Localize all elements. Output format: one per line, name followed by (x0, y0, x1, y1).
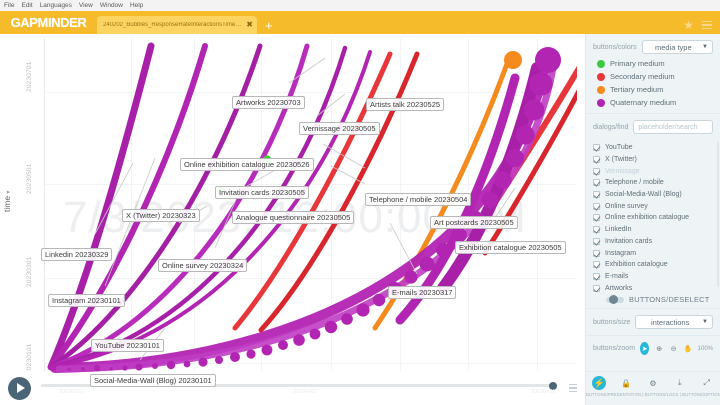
list-item-artworks[interactable]: Artworks (593, 282, 713, 292)
y-tick-0: 20230701 (26, 61, 33, 92)
checkbox-icon[interactable] (593, 214, 600, 221)
list-scrollbar[interactable] (717, 142, 719, 287)
browser-tab-active[interactable]: 240202_Bubbles_ResponseRateInteractionsT… (97, 16, 257, 34)
annotation-emails[interactable]: E-mails 20230317 (388, 286, 456, 299)
annotation-linkedin[interactable]: Linkedin 20230329 (41, 248, 112, 261)
chevron-down-icon: ▼ (702, 319, 708, 325)
annotation-social-media-wall[interactable]: Social-Media-Wall (Blog) 20230101 (90, 374, 216, 387)
annotation-x-twitter[interactable]: X (Twitter) 20230323 (122, 209, 200, 222)
checkbox-icon[interactable] (593, 191, 600, 198)
y-tick-1: 20230501 (26, 163, 33, 194)
play-button[interactable] (8, 377, 31, 400)
list-item-vernissage[interactable]: Vernissage (593, 165, 713, 177)
deselect-toggle[interactable] (606, 297, 624, 303)
checkbox-icon[interactable] (593, 203, 600, 210)
tab-title: 240202_Bubbles_ResponseRateInteractionsT… (103, 22, 242, 28)
hamburger-menu-icon[interactable] (702, 21, 712, 30)
fullscreen-icon[interactable]: ⤢ (700, 376, 714, 390)
legend-dot-orange (597, 86, 605, 94)
annotation-invitation-cards[interactable]: Invitation cards 20230505 (215, 186, 309, 199)
checkbox-icon[interactable] (593, 144, 600, 151)
colors-label: buttons/colors (593, 44, 637, 51)
new-tab-button[interactable]: + (265, 18, 273, 34)
list-item-telephone-mobile[interactable]: Telephone / mobile (593, 177, 713, 189)
legend-label-primary: Primary medium (610, 59, 665, 68)
legend-label-tertiary: Tertiary medium (610, 85, 663, 94)
zoom-label: buttons/zoom (593, 345, 635, 352)
annotation-artists-talk[interactable]: Artists talk 20230525 (366, 98, 444, 111)
annotation-analogue-quest[interactable]: Analogue questionnaire 20230505 (232, 211, 354, 224)
deselect-row[interactable]: BUTTONS/DESELECT (586, 292, 720, 304)
sidebar-footer: ⚡ 🔒 ⚙ ⤓ ⤢ BUTTONS/PRESENTATION | BUTTONS… (585, 371, 720, 405)
presentation-icon[interactable]: ⚡ (592, 376, 606, 390)
list-item-online-exhibition-catalogue[interactable]: Online exhibition catalogue (593, 212, 713, 224)
legend-dot-magenta (597, 99, 605, 107)
zoom-percent: 100% (698, 346, 713, 352)
timeline-options-icon[interactable] (569, 384, 577, 392)
checkbox-icon[interactable] (593, 179, 600, 186)
checkbox-icon[interactable] (593, 285, 600, 292)
annotation-artworks[interactable]: Artworks 20230703 (232, 96, 305, 109)
legend-dot-green (597, 60, 605, 68)
y-axis-label[interactable]: time ▾ (2, 191, 12, 212)
menu-item-languages[interactable]: Languages (40, 0, 72, 11)
gear-icon[interactable]: ⚙ (646, 376, 660, 390)
size-label: buttons/size (593, 319, 630, 326)
menu-item-view[interactable]: View (79, 0, 93, 11)
list-item-online-survey[interactable]: Online survey (593, 200, 713, 212)
entity-checkbox-list[interactable]: YouTube X (Twitter) Vernissage Telephone… (586, 140, 720, 292)
annotation-vernissage[interactable]: Vernissage 20230505 (299, 122, 380, 135)
list-item-exhibition-catalogue[interactable]: Exhibition catalogue (593, 259, 713, 271)
legend-item-quaternary[interactable]: Quaternary medium (593, 98, 713, 107)
checkbox-icon[interactable] (593, 238, 600, 245)
list-item-emails[interactable]: E-mails (593, 271, 713, 283)
legend-item-secondary[interactable]: Secondary medium (593, 72, 713, 81)
colors-select-value: media type (655, 43, 692, 52)
list-item-instagram[interactable]: Instagram (593, 247, 713, 259)
annotation-telephone-mobile[interactable]: Telephone / mobile 20230504 (365, 193, 471, 206)
menu-item-help[interactable]: Help (130, 0, 143, 11)
find-panel: dialogs/find placeholder/search (586, 113, 720, 140)
timeline-mark-mid: 20230401 (293, 389, 317, 395)
list-item-linkedin[interactable]: LinkedIn (593, 224, 713, 236)
checkbox-icon[interactable] (593, 226, 600, 233)
checkbox-icon[interactable] (593, 273, 600, 280)
find-label: dialogs/find (593, 124, 628, 131)
timeline-mark-start: 20230101 (59, 389, 83, 395)
list-item-invitation-cards[interactable]: Invitation cards (593, 236, 713, 248)
search-placeholder: placeholder/search (638, 124, 697, 131)
annotation-youtube[interactable]: YouTube 20230101 (91, 339, 164, 352)
zoom-panel: buttons/zoom ➤ ⊕ ⊖ ✋ 100% (586, 335, 720, 361)
export-icon[interactable]: ⤓ (673, 376, 687, 390)
footer-caption: BUTTONS/PRESENTATION | BUTTONS/LOCK | BU… (586, 392, 720, 397)
app-root: File Edit Languages View Window Help GAP… (0, 0, 720, 405)
pointer-icon[interactable]: ➤ (640, 342, 649, 355)
lock-icon[interactable]: 🔒 (619, 376, 633, 390)
chevron-down-icon: ▼ (702, 44, 708, 50)
annotation-art-postcards[interactable]: Art postcards 20230505 (430, 216, 518, 229)
legend-label-quaternary: Quaternary medium (610, 98, 676, 107)
menu-bar: File Edit Languages View Window Help (0, 0, 720, 11)
annotation-instagram[interactable]: Instagram 20230101 (48, 294, 125, 307)
tabstrip-actions: ★ (683, 18, 720, 34)
annotation-exhibition-cat[interactable]: Exhibition catalogue 20230505 (455, 241, 566, 254)
legend-dot-red (597, 73, 605, 81)
search-input[interactable]: placeholder/search (633, 120, 713, 134)
annotation-online-survey[interactable]: Online survey 20230324 (158, 259, 247, 272)
play-icon (17, 383, 25, 393)
timeline-mark-end: 20230701 (531, 389, 555, 395)
menu-item-file[interactable]: File (4, 0, 14, 11)
close-icon[interactable]: ✖ (246, 21, 253, 29)
legend-label-secondary: Secondary medium (610, 72, 675, 81)
size-select-value: interactions (651, 318, 689, 327)
legend-item-tertiary[interactable]: Tertiary medium (593, 85, 713, 94)
size-panel: buttons/size interactions ▼ (586, 308, 720, 335)
color-legend: Primary medium Secondary medium Tertiary… (593, 59, 713, 107)
checkbox-icon[interactable] (593, 168, 600, 175)
deselect-label: BUTTONS/DESELECT (629, 295, 710, 304)
annotation-online-exh-cat[interactable]: Online exhibition catalogue 20230526 (180, 158, 314, 171)
control-sidebar: buttons/colors media type ▼ Primary medi… (585, 34, 720, 371)
star-icon[interactable]: ★ (683, 18, 694, 32)
colors-panel: buttons/colors media type ▼ Primary medi… (586, 34, 720, 113)
checkbox-icon[interactable] (593, 156, 600, 163)
size-select[interactable]: interactions ▼ (635, 315, 713, 329)
colors-select[interactable]: media type ▼ (642, 40, 713, 54)
gapminder-logo: GAPMINDER (0, 11, 97, 34)
menu-item-edit[interactable]: Edit (21, 0, 32, 11)
list-item-youtube[interactable]: YouTube (593, 142, 713, 154)
zoom-in-icon[interactable]: ⊕ (654, 342, 663, 355)
tab-strip: GAPMINDER 240202_Bubbles_ResponseRateInt… (0, 11, 720, 34)
checkbox-icon[interactable] (593, 261, 600, 268)
chart-area: time ▾ response rate ▾ 20230701 20230501… (0, 34, 585, 371)
y-tick-2: 20230301 (26, 256, 33, 287)
list-item-x-twitter[interactable]: X (Twitter) (593, 154, 713, 166)
zoom-out-icon[interactable]: ⊖ (669, 342, 678, 355)
y-tick-3: 20230101 (26, 343, 33, 374)
checkbox-icon[interactable] (593, 250, 600, 257)
hand-icon[interactable]: ✋ (683, 342, 692, 355)
list-item-social-media-wall[interactable]: Social-Media-Wall (Blog) (593, 189, 713, 201)
legend-item-primary[interactable]: Primary medium (593, 59, 713, 68)
menu-item-window[interactable]: Window (100, 0, 123, 11)
